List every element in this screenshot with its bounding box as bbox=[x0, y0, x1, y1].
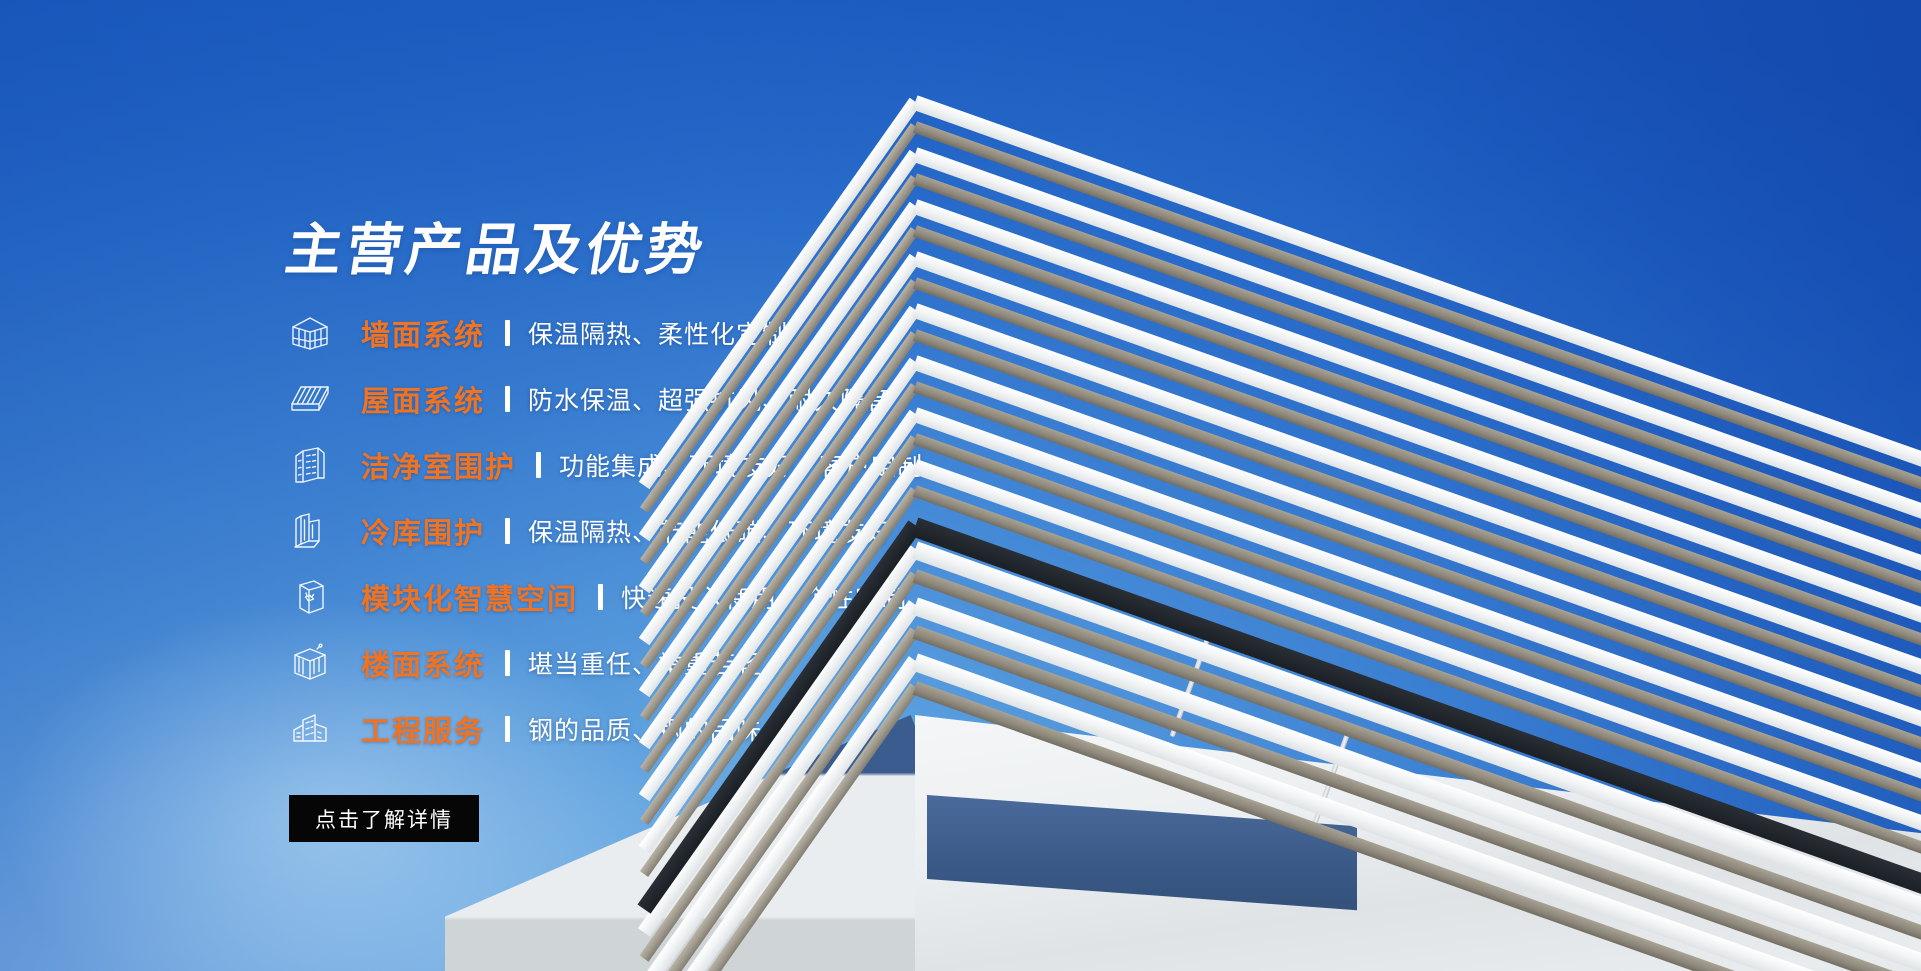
product-description: 钢的品质、钢的品味 bbox=[528, 711, 762, 747]
product-label: 屋面系统 bbox=[361, 378, 485, 420]
product-list-item[interactable]: 楼面系统堪当重任、举重若轻 bbox=[287, 630, 1187, 696]
label-separator bbox=[505, 386, 510, 412]
product-label: 楼面系统 bbox=[361, 642, 485, 684]
modular-smart-space-icon bbox=[287, 575, 333, 619]
product-description: 功能集成、环境友好、客户定制 bbox=[559, 447, 923, 483]
product-label: 墙面系统 bbox=[361, 312, 485, 354]
cold-storage-enclosure-icon bbox=[287, 509, 333, 553]
cleanroom-enclosure-icon bbox=[287, 443, 333, 487]
engineering-service-icon bbox=[287, 707, 333, 751]
product-list: 墙面系统保温隔热、柔性化定制 屋面系统防水保温、超强抗风、耐久隔音 bbox=[287, 300, 1187, 762]
learn-more-button[interactable]: 点击了解详情 bbox=[289, 795, 479, 842]
product-list-item[interactable]: 墙面系统保温隔热、柔性化定制 bbox=[287, 300, 1187, 366]
page-title: 主营产品及优势 bbox=[281, 205, 714, 286]
label-separator bbox=[505, 320, 510, 346]
roof-system-icon bbox=[287, 377, 333, 421]
label-separator bbox=[505, 716, 510, 742]
label-separator bbox=[598, 584, 603, 610]
product-list-item[interactable]: 屋面系统防水保温、超强抗风、耐久隔音 bbox=[287, 366, 1187, 432]
product-description: 防水保温、超强抗风、耐久隔音 bbox=[528, 381, 892, 417]
product-label: 冷库围护 bbox=[361, 510, 485, 552]
product-label: 工程服务 bbox=[361, 708, 485, 750]
product-list-item[interactable]: 模块化智慧空间快速投入使用、个性定制 bbox=[287, 564, 1187, 630]
label-separator bbox=[505, 650, 510, 676]
product-description: 保温隔热、节能低碳、环境友好 bbox=[528, 513, 892, 549]
product-label: 洁净室围护 bbox=[361, 444, 516, 486]
product-description: 堪当重任、举重若轻 bbox=[528, 645, 762, 681]
product-description: 保温隔热、柔性化定制 bbox=[528, 315, 788, 351]
product-list-item[interactable]: 洁净室围护功能集成、环境友好、客户定制 bbox=[287, 432, 1187, 498]
product-label: 模块化智慧空间 bbox=[361, 576, 578, 618]
hero-content: 主营产品及优势 墙面系统保温隔热、柔性化定制 屋面系统防水保温、超强抗风、耐久隔… bbox=[0, 0, 1000, 971]
product-list-item[interactable]: 工程服务钢的品质、钢的品味 bbox=[287, 696, 1187, 762]
label-separator bbox=[536, 452, 541, 478]
product-list-item[interactable]: 冷库围护保温隔热、节能低碳、环境友好 bbox=[287, 498, 1187, 564]
wall-system-icon bbox=[287, 311, 333, 355]
label-separator bbox=[505, 518, 510, 544]
product-description: 快速投入使用、个性定制 bbox=[621, 579, 907, 615]
floor-system-icon bbox=[287, 641, 333, 685]
hero-banner: 主营产品及优势 墙面系统保温隔热、柔性化定制 屋面系统防水保温、超强抗风、耐久隔… bbox=[0, 0, 1921, 971]
